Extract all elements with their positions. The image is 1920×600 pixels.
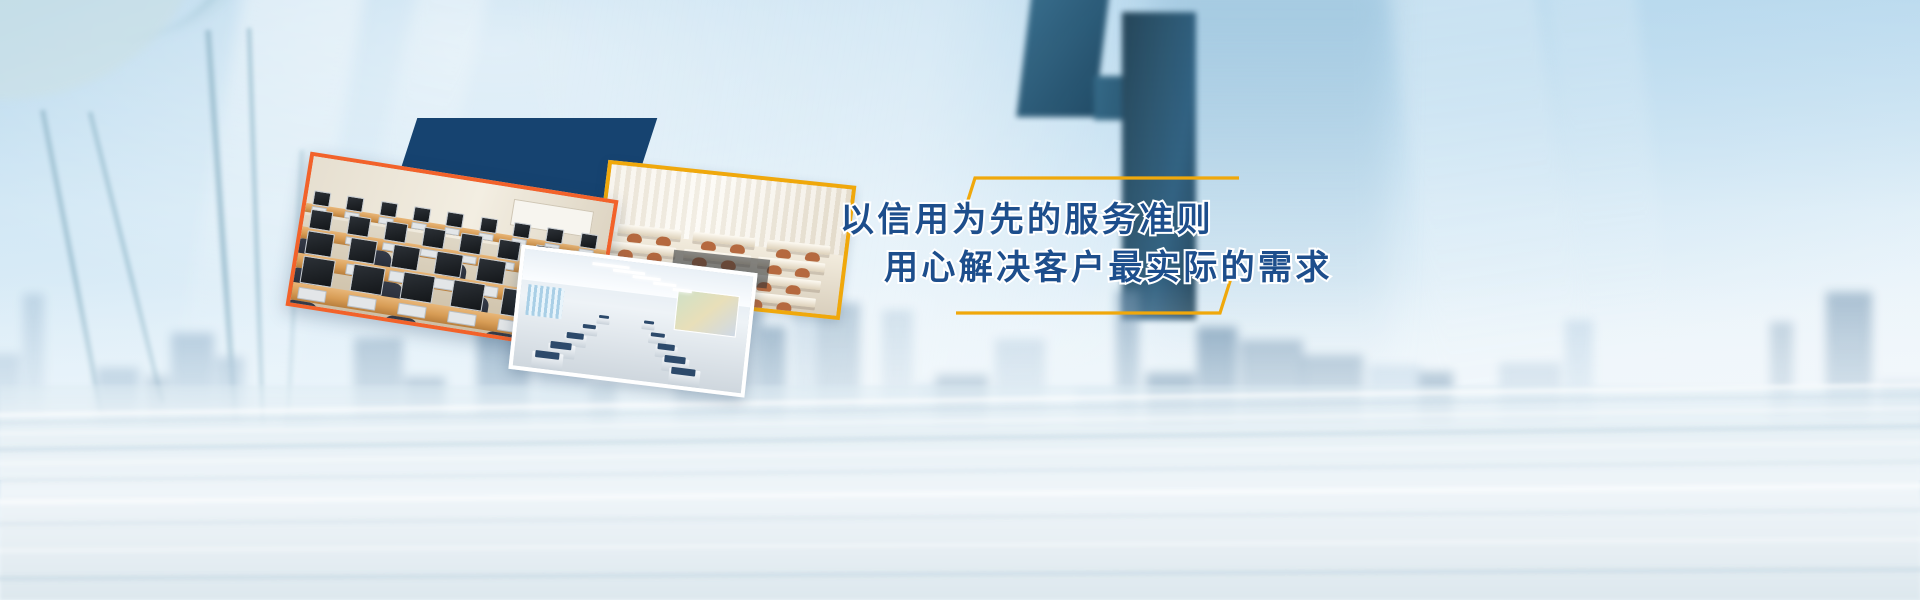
headline-line-1: 以信用为先的服务准则 [840,196,1360,244]
lab-monitor [476,258,507,286]
lab-monitor [379,201,398,218]
lab-monitor [308,209,333,231]
photo-collage [0,0,1920,600]
lab-monitor [445,211,464,228]
lab-monitor [304,231,335,259]
lab-monitor [449,279,486,312]
lab-monitor [545,227,564,244]
lab-monitor [383,221,408,243]
lab-monitor [458,233,483,255]
lab-monitor [421,227,446,249]
lab-monitor [579,232,598,249]
lab-monitor [496,239,521,261]
lab-monitor [399,271,436,304]
wall-map [674,289,740,338]
lab-monitor [512,222,531,239]
classroom-chair [776,302,792,312]
lab-monitor [312,190,331,207]
lab-monitor [346,215,371,237]
hero-banner: 以信用为先的服务准则 用心解决客户最实际的需求 [0,0,1920,600]
lab-chair [285,299,318,338]
lab-monitor [347,237,378,265]
lab-monitor [479,217,498,234]
lab-monitor [412,206,431,223]
lab-monitor [299,255,336,288]
headline-block: 以信用为先的服务准则 用心解决客户最实际的需求 [840,196,1360,293]
control-room-scene [513,249,753,393]
lab-monitor [390,244,421,272]
lab-chair [379,314,419,353]
lab-monitor [345,195,364,212]
control-room-window [525,285,565,320]
lab-monitor [349,263,386,296]
lab-monitor [433,251,464,279]
headline-line-2: 用心解决客户最实际的需求 [840,244,1360,292]
